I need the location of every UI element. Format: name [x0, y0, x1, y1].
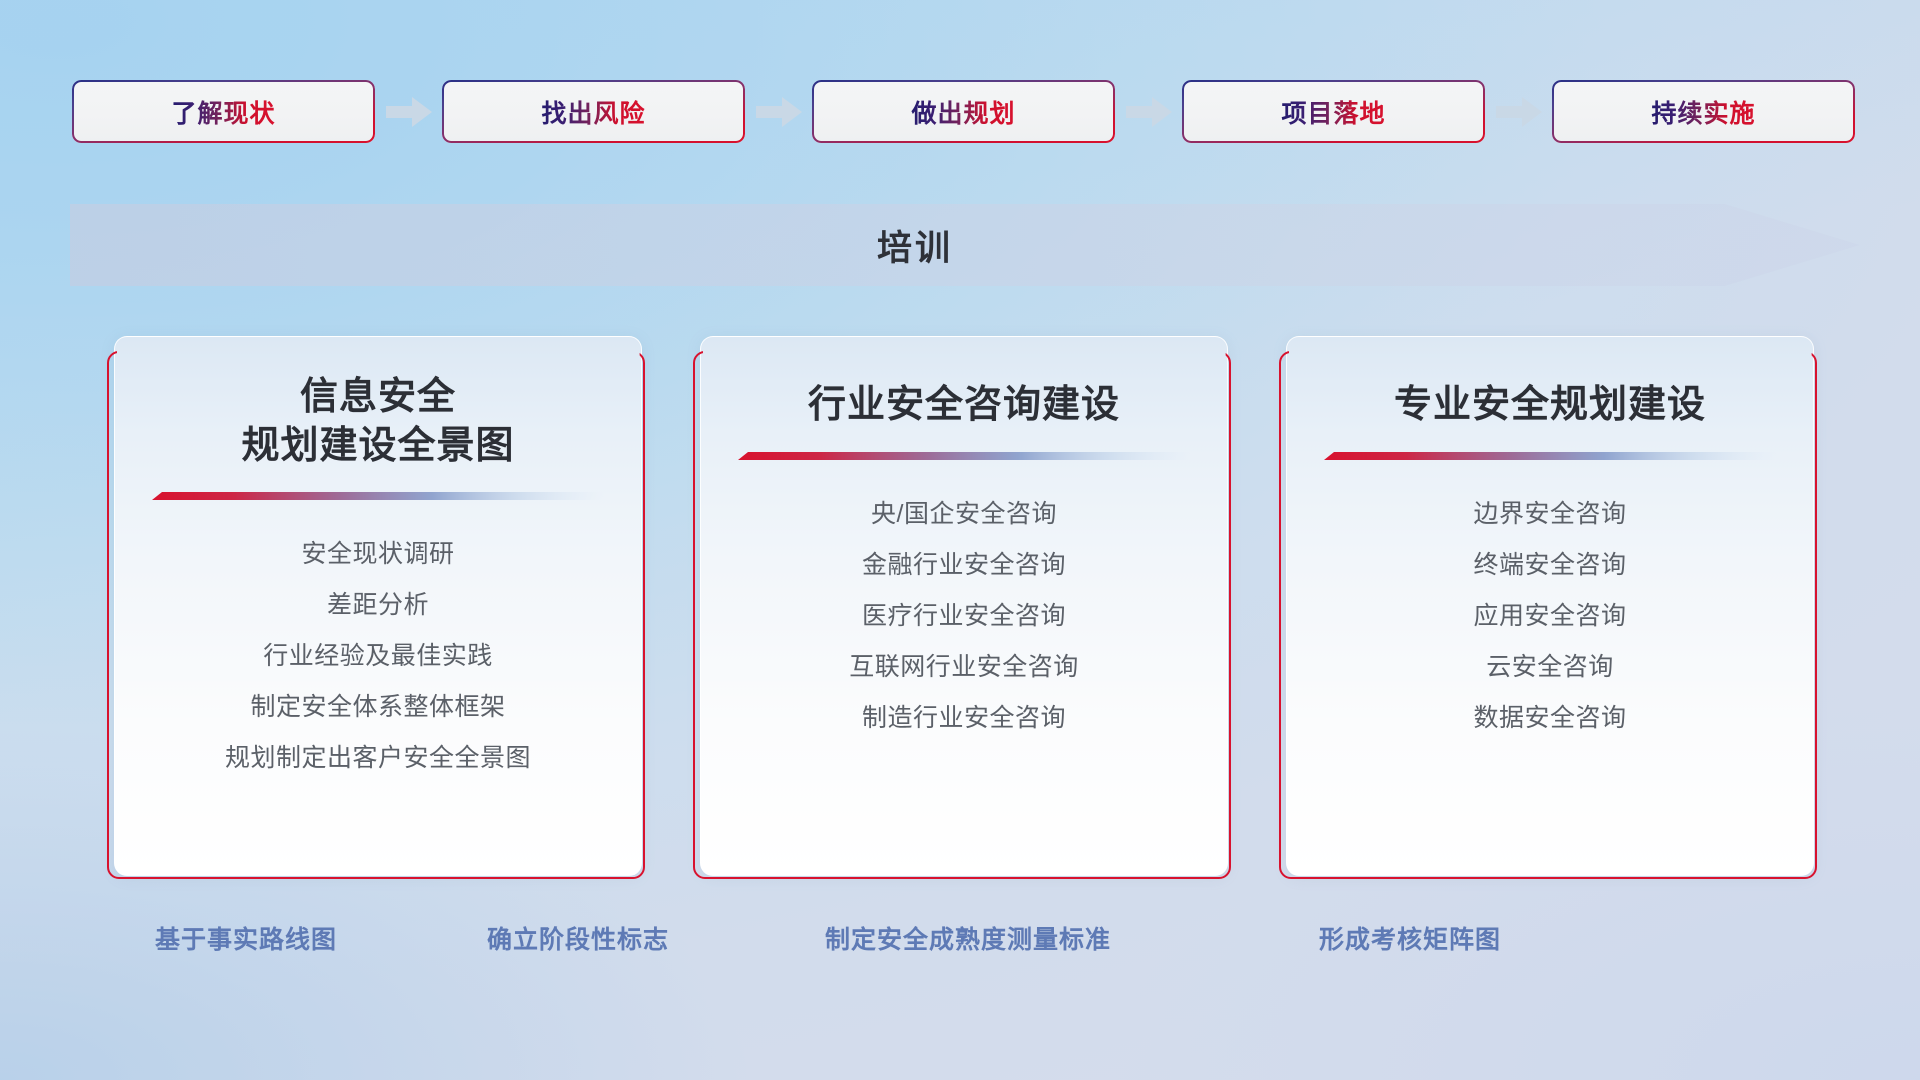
card-title: 行业安全咨询建设	[788, 381, 1140, 430]
list-item: 央/国企安全咨询	[871, 489, 1057, 540]
card-title-line: 信息安全	[241, 373, 514, 422]
caption-matrix: 形成考核矩阵图	[1319, 920, 1501, 956]
step-arrow-4	[1485, 80, 1552, 143]
process-step-label: 做出规划	[911, 94, 1015, 130]
process-step-label: 持续实施	[1651, 94, 1755, 130]
step-arrow-3	[1115, 80, 1182, 143]
list-item: 医疗行业安全咨询	[862, 591, 1066, 642]
card-list: 安全现状调研 差距分析 行业经验及最佳实践 制定安全体系整体框架 规划制定出客户…	[115, 529, 641, 784]
process-step-label: 找出风险	[541, 94, 645, 130]
card-list: 央/国企安全咨询 金融行业安全咨询 医疗行业安全咨询 互联网行业安全咨询 制造行…	[701, 489, 1227, 744]
list-item: 安全现状调研	[301, 529, 454, 580]
process-step-label: 了解现状	[171, 94, 275, 130]
process-step-2[interactable]: 找出风险	[442, 80, 745, 143]
process-step-label: 项目落地	[1281, 94, 1385, 130]
list-item: 互联网行业安全咨询	[849, 642, 1079, 693]
list-item: 规划制定出客户安全全景图	[225, 733, 531, 784]
card-title-line: 规划建设全景图	[241, 422, 514, 471]
list-item: 金融行业安全咨询	[862, 540, 1066, 591]
card-divider-wrap	[1287, 452, 1813, 463]
banner-title: 培训	[70, 204, 1760, 286]
step-arrow-1	[375, 80, 442, 143]
list-item: 应用安全咨询	[1473, 591, 1626, 642]
process-step-row: 了解现状 找出风险 做出规划 项目落地 持续实施	[72, 79, 1856, 144]
list-item: 边界安全咨询	[1473, 489, 1626, 540]
list-item: 差距分析	[327, 580, 429, 631]
process-step-4[interactable]: 项目落地	[1182, 80, 1485, 143]
training-banner: 培训	[70, 204, 1860, 286]
caption-maturity: 制定安全成熟度测量标准	[825, 920, 1111, 956]
caption-milestone: 确立阶段性标志	[487, 920, 669, 956]
gradient-divider-icon	[152, 492, 604, 503]
card-title: 信息安全 规划建设全景图	[221, 373, 534, 470]
card-divider-wrap	[115, 492, 641, 503]
list-item: 行业经验及最佳实践	[263, 631, 493, 682]
card-list: 边界安全咨询 终端安全咨询 应用安全咨询 云安全咨询 数据安全咨询	[1287, 489, 1813, 744]
caption-roadmap: 基于事实路线图	[155, 920, 337, 956]
card-professional-security-planning[interactable]: 专业安全规划建设	[1286, 336, 1814, 876]
gradient-divider-icon	[1324, 452, 1776, 463]
card-title: 专业安全规划建设	[1374, 381, 1726, 430]
list-item: 云安全咨询	[1486, 642, 1614, 693]
list-item: 数据安全咨询	[1473, 693, 1626, 744]
list-item: 制定安全体系整体框架	[250, 682, 505, 733]
card-row: 信息安全 规划建设全景图	[114, 336, 1814, 876]
card-divider-wrap	[701, 452, 1227, 463]
list-item: 制造行业安全咨询	[862, 693, 1066, 744]
list-item: 终端安全咨询	[1473, 540, 1626, 591]
card-industry-security-consulting[interactable]: 行业安全咨询建设	[700, 336, 1228, 876]
card-title-line: 行业安全咨询建设	[808, 381, 1120, 430]
caption-row: 基于事实路线图 确立阶段性标志 制定安全成熟度测量标准 形成考核矩阵图	[0, 920, 1920, 966]
gradient-divider-icon	[738, 452, 1190, 463]
process-step-3[interactable]: 做出规划	[812, 80, 1115, 143]
card-title-line: 专业安全规划建设	[1394, 381, 1706, 430]
process-step-1[interactable]: 了解现状	[72, 80, 375, 143]
card-information-security-panorama[interactable]: 信息安全 规划建设全景图	[114, 336, 642, 876]
step-arrow-2	[745, 80, 812, 143]
process-step-5[interactable]: 持续实施	[1552, 80, 1855, 143]
